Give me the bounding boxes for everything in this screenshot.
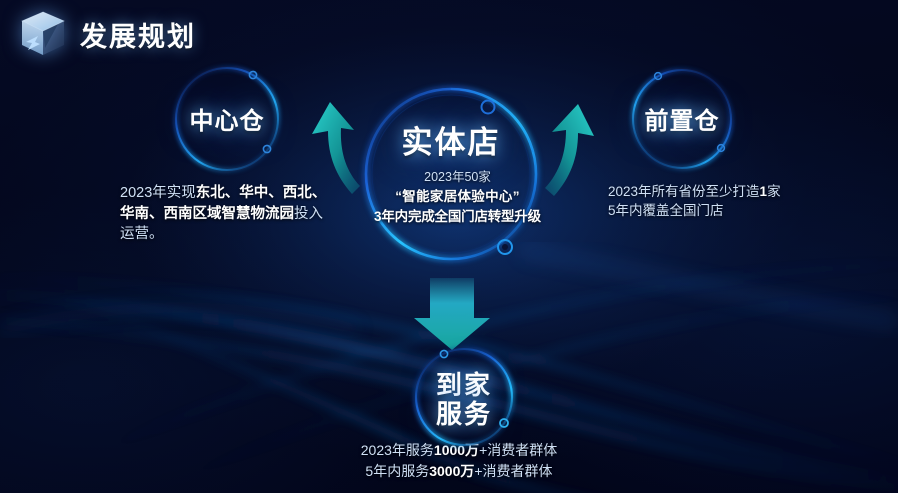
bottom-desc2-prefix: 5年内服务	[365, 463, 429, 479]
node-right[interactable]: 前置仓	[625, 62, 739, 181]
left-description: 2023年实现东北、华中、西北、华南、西南区域智慧物流园投入运营。	[120, 183, 335, 245]
slide-canvas: 发展规划	[0, 0, 898, 493]
right-label: 前置仓	[625, 109, 739, 133]
center-desc-line3: 3年内完成全国门店转型升级	[355, 207, 560, 227]
right-desc-bold: 1	[760, 184, 768, 199]
bottom-desc2-suffix: +消费者群体	[474, 463, 552, 479]
bottom-label: 到家 服务	[408, 370, 520, 428]
right-desc-suffix: 家	[767, 184, 781, 199]
right-desc-prefix: 2023年所有省份至少打造	[608, 184, 760, 199]
center-desc-line2: “智能家居体验中心”	[355, 187, 560, 207]
node-left[interactable]: 中心仓	[168, 60, 286, 183]
page-title: 发展规划	[80, 15, 196, 54]
center-label: 实体店	[355, 127, 547, 159]
bottom-desc2-bold: 3000万	[429, 463, 474, 479]
slide-header: 发展规划	[18, 8, 196, 60]
bottom-desc-line2: 5年内服务3000万+消费者群体	[324, 461, 594, 482]
right-desc-line1: 2023年所有省份至少打造1家	[608, 182, 798, 201]
right-desc-line2: 5年内覆盖全国门店	[608, 201, 798, 220]
right-description: 2023年所有省份至少打造1家 5年内覆盖全国门店	[608, 182, 798, 220]
arrow-up-left-icon	[312, 102, 360, 194]
cube-icon	[18, 8, 68, 60]
center-description: 2023年50家 “智能家居体验中心” 3年内完成全国门店转型升级	[355, 168, 560, 227]
left-label: 中心仓	[168, 109, 286, 133]
left-desc-prefix: 2023年实现	[120, 185, 196, 201]
arrow-down-icon	[414, 278, 490, 350]
center-desc-line1: 2023年50家	[355, 168, 560, 187]
node-bottom[interactable]: 到家 服务	[408, 341, 520, 458]
